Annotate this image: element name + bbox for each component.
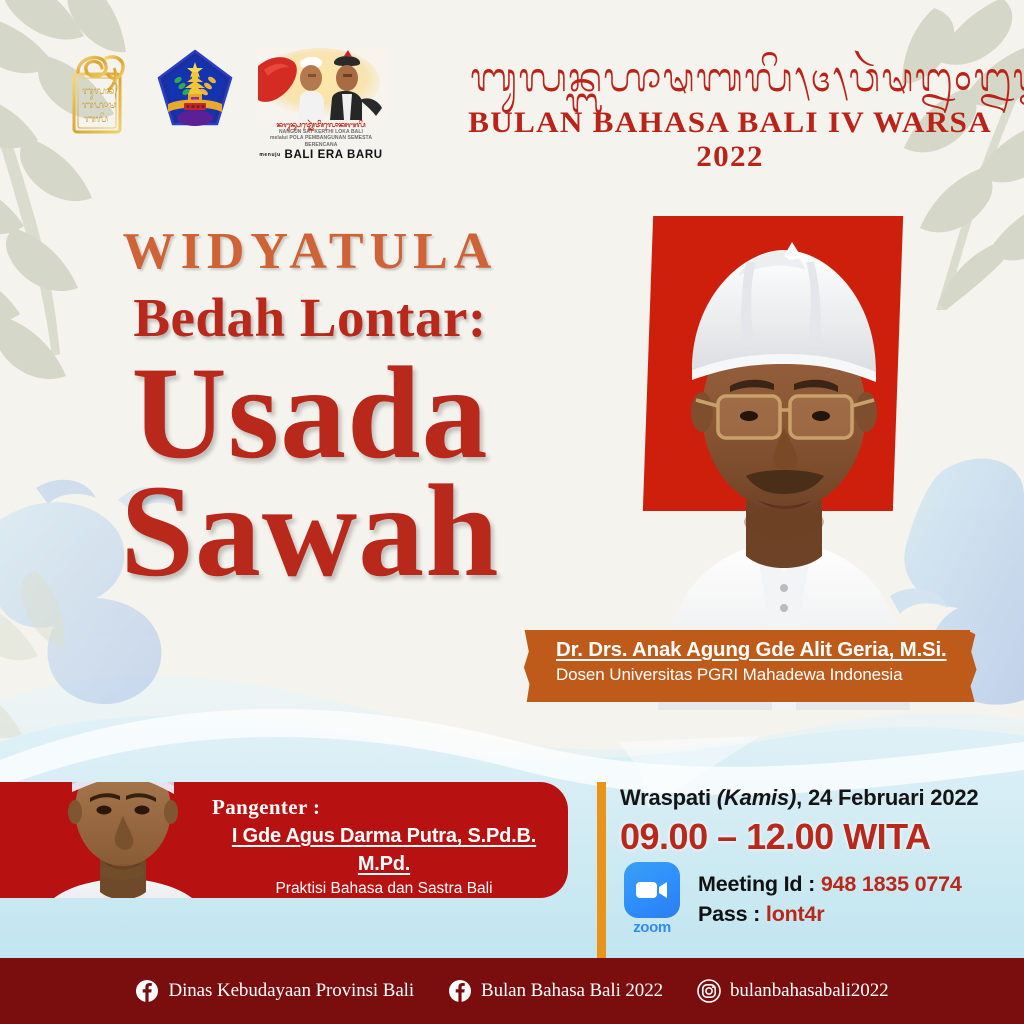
footer-label-instagram: bulanbahasabali2022 <box>730 980 889 1002</box>
bulan-bahasa-bali-lontar-logo: ᬩᬸᬮᬦ᭄ ᬩᬳᬵᬱ ᬩᬮᬶ <box>62 48 134 136</box>
gubernur-balinese-tagline: ᬦᬗᬸᬦ᭄ᬲᬢ᭄ᬓᬾᬃᬢᬶᬮᭀᬓᬩᬮᬶ <box>256 121 386 128</box>
headline-title-line2: Sawah <box>0 472 620 590</box>
pangenter-role: Praktisi Bahasa dan Sastra Bali <box>204 878 564 898</box>
instagram-icon <box>697 979 721 1003</box>
balinese-script-title: ᬩᬸᬮᬦ᭄ᬩᬳᬵᬱᬩᬮᬶ᭞᭔᭞ᬯᬃᬱ᭒᭐᭒᭒᭟ <box>470 52 990 104</box>
meeting-id-line: Meeting Id : 948 1835 0774 <box>698 869 962 899</box>
zoom-icon <box>624 862 680 918</box>
zoom-logo: zoom <box>620 862 684 936</box>
pangenter-portrait <box>28 782 218 898</box>
event-time: 09.00 – 12.00 WITA <box>620 814 1020 860</box>
provinsi-bali-emblem <box>156 48 234 134</box>
logo-row: ᬩᬸᬮᬦ᭄ ᬩᬳᬵᬱ ᬩᬮᬶ <box>62 48 386 156</box>
pangenter-card: Pangenter : I Gde Agus Darma Putra, S.Pd… <box>0 782 568 898</box>
speaker-name: Dr. Drs. Anak Agung Gde Alit Geria, M.Si… <box>556 637 950 663</box>
footer-label-facebook-dinas: Dinas Kebudayaan Provinsi Bali <box>168 980 414 1002</box>
speaker-name-banner: Dr. Drs. Anak Agung Gde Alit Geria, M.Si… <box>530 630 970 702</box>
bali-era-baru-text: BALI ERA BARU <box>285 149 383 161</box>
event-date-day-alt: (Kamis) <box>717 785 796 810</box>
headline-block: WIDYATULA Bedah Lontar: Usada Sawah <box>0 222 620 590</box>
svg-text:ᬩᬮᬶ: ᬩᬮᬶ <box>84 112 108 125</box>
pangenter-name: I Gde Agus Darma Putra, S.Pd.B. M.Pd. <box>204 822 564 878</box>
pass-value: lont4r <box>766 902 825 926</box>
menuju-prefix: menuju <box>259 152 280 158</box>
zoom-wordmark: zoom <box>620 919 684 936</box>
svg-text:ᬩᬳᬵᬱ: ᬩᬳᬵᬱ <box>82 100 116 111</box>
footer-label-facebook-bbb: Bulan Bahasa Bali 2022 <box>481 980 663 1002</box>
poster-header: ᬩᬸᬮᬦ᭄ ᬩᬳᬵᬱ ᬩᬮᬶ <box>0 0 1024 185</box>
footer-item-facebook-bbb[interactable]: Bulan Bahasa Bali 2022 <box>448 979 663 1003</box>
meeting-details: Meeting Id : 948 1835 0774 Pass : lont4r <box>698 869 962 929</box>
headline-eyebrow: WIDYATULA <box>0 222 620 282</box>
gubernur-bali-logo: ᬦᬗᬸᬦ᭄ᬲᬢ᭄ᬓᬾᬃᬢᬶᬮᭀᬓᬩᬮᬶ NANGUN SAT KERTHI LO… <box>256 48 386 156</box>
headline-title-line1: Usada <box>0 354 620 472</box>
gubernur-photo <box>256 48 386 120</box>
footer-item-facebook-dinas[interactable]: Dinas Kebudayaan Provinsi Bali <box>135 979 414 1003</box>
meeting-id-label: Meeting Id : <box>698 872 821 896</box>
pangenter-label: Pangenter : <box>204 792 564 822</box>
schedule-divider <box>597 782 606 960</box>
meeting-row: zoom Meeting Id : 948 1835 0774 Pass : l… <box>620 862 1020 936</box>
pass-label: Pass : <box>698 902 766 926</box>
event-title-block: ᬩᬸᬮᬦ᭄ᬩᬳᬵᬱᬩᬮᬶ᭞᭔᭞ᬯᬃᬱ᭒᭐᭒᭒᭟ BULAN BAHASA BAL… <box>470 52 990 174</box>
poster-footer: Dinas Kebudayaan Provinsi Bali Bulan Bah… <box>0 958 1024 1024</box>
facebook-icon <box>448 979 472 1003</box>
event-date-rest: , 24 Februari 2022 <box>796 785 978 810</box>
meeting-pass-line: Pass : lont4r <box>698 899 962 929</box>
pangenter-text: Pangenter : I Gde Agus Darma Putra, S.Pd… <box>204 792 564 898</box>
bali-era-baru-tagline: menuju BALI ERA BARU <box>256 149 386 161</box>
speaker-role: Dosen Universitas PGRI Mahadewa Indonesi… <box>556 663 950 687</box>
event-date-day: Wraspati <box>620 785 711 810</box>
poster-canvas: ᬩᬸᬮᬦ᭄ ᬩᬳᬵᬱ ᬩᬮᬶ <box>0 0 1024 1024</box>
facebook-icon <box>135 979 159 1003</box>
latin-event-title: BULAN BAHASA BALI IV WARSA 2022 <box>460 106 1001 174</box>
footer-item-instagram[interactable]: bulanbahasabali2022 <box>697 979 889 1003</box>
svg-text:ᬩᬸᬮᬦ᭄: ᬩᬸᬮᬦ᭄ <box>82 83 118 100</box>
meeting-id-value: 948 1835 0774 <box>821 872 962 896</box>
schedule-block: Wraspati (Kamis), 24 Februari 2022 09.00… <box>620 782 1020 936</box>
event-date: Wraspati (Kamis), 24 Februari 2022 <box>620 782 1020 814</box>
gubernur-latin-tagline-2: melalui POLA PEMBANGUNAN SEMESTA BERENCA… <box>256 135 386 148</box>
